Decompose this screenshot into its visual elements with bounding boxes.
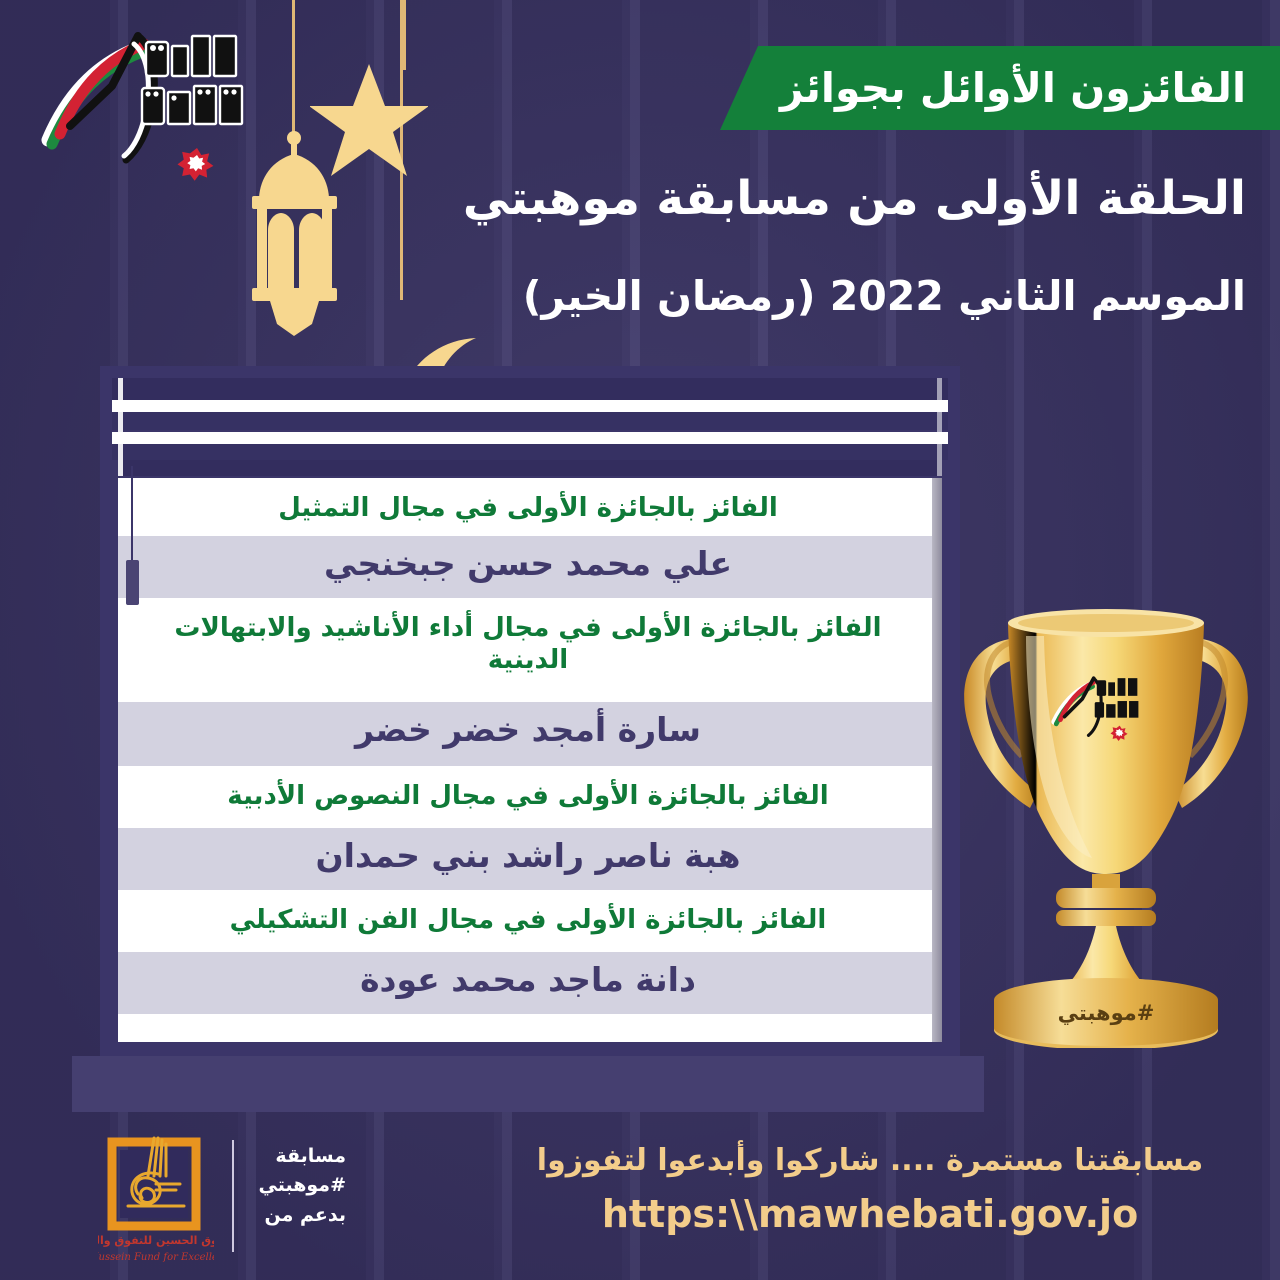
page-subtitle: الموسم الثاني 2022 (رمضان الخير): [366, 272, 1246, 321]
winners-banner: الفائزون الأوائل بجوائز: [720, 46, 1280, 130]
trophy-base-label: #موهبتي: [1058, 1001, 1155, 1025]
blind-slat-5: [112, 444, 948, 460]
sponsor-name-ar: صندوق الحسين للتفوق والتميز: [98, 1234, 214, 1247]
sponsor-divider: [232, 1140, 234, 1252]
blind-slat-2: [112, 400, 948, 412]
award-winner-3: هبة ناصر راشد بني حمدان: [140, 836, 916, 876]
blind-slat-6: [118, 460, 942, 476]
footer-url[interactable]: https:\\mawhebati.gov.jo: [500, 1192, 1240, 1238]
blind-slat-3: [112, 412, 948, 430]
trophy-illustration: #موهبتي: [946, 596, 1266, 1048]
al-hussein-fund-logo: صندوق الحسين للتفوق والتميز Al Hussein F…: [98, 1132, 214, 1268]
award-winner-1: علي محمد حسن جبخنجي: [140, 544, 916, 584]
blind-slat-4: [112, 432, 948, 444]
award-category-4: الفائز بالجائزة الأولى في مجال الفن التش…: [140, 904, 916, 936]
award-category-2: الفائز بالجائزة الأولى في مجال أداء الأن…: [140, 612, 916, 676]
award-category-1: الفائز بالجائزة الأولى في مجال التمثيل: [140, 492, 916, 524]
row-band-9: [118, 1014, 942, 1042]
poster-canvas: الفائزون الأوائل بجوائز الحلقة الأولى من…: [0, 0, 1280, 1280]
sponsor-label: مسابقة #موهبتي بدعم من: [250, 1142, 346, 1230]
page-title: الحلقة الأولى من مسابقة موهبتي: [366, 172, 1246, 226]
award-winner-4: دانة ماجد محمد عودة: [140, 960, 916, 1000]
blind-slat-1: [112, 378, 948, 400]
banner-label: الفائزون الأوائل بجوائز: [780, 68, 1246, 109]
ministry-of-culture-logo: [34, 22, 264, 182]
winners-board: الفائز بالجائزة الأولى في مجال التمثيل ع…: [100, 366, 960, 1056]
sponsor-block: صندوق الحسين للتفوق والتميز Al Hussein F…: [74, 1128, 344, 1270]
board-plinth: [72, 1056, 984, 1112]
panel-right-shadow: [932, 478, 942, 1042]
sponsor-name-en: Al Hussein Fund for Excellence: [98, 1252, 214, 1263]
blind-side-rail-right: [937, 378, 942, 476]
blind-pull-handle[interactable]: [126, 560, 139, 605]
award-winner-2: سارة أمجد خضر خضر: [140, 710, 916, 750]
footer-tagline: مسابقتنا مستمرة .... شاركوا وأبدعوا لتفو…: [500, 1142, 1240, 1180]
blind-side-rail-left: [118, 378, 123, 476]
winners-panel: الفائز بالجائزة الأولى في مجال التمثيل ع…: [118, 478, 942, 1042]
award-category-3: الفائز بالجائزة الأولى في مجال النصوص ال…: [140, 780, 916, 812]
